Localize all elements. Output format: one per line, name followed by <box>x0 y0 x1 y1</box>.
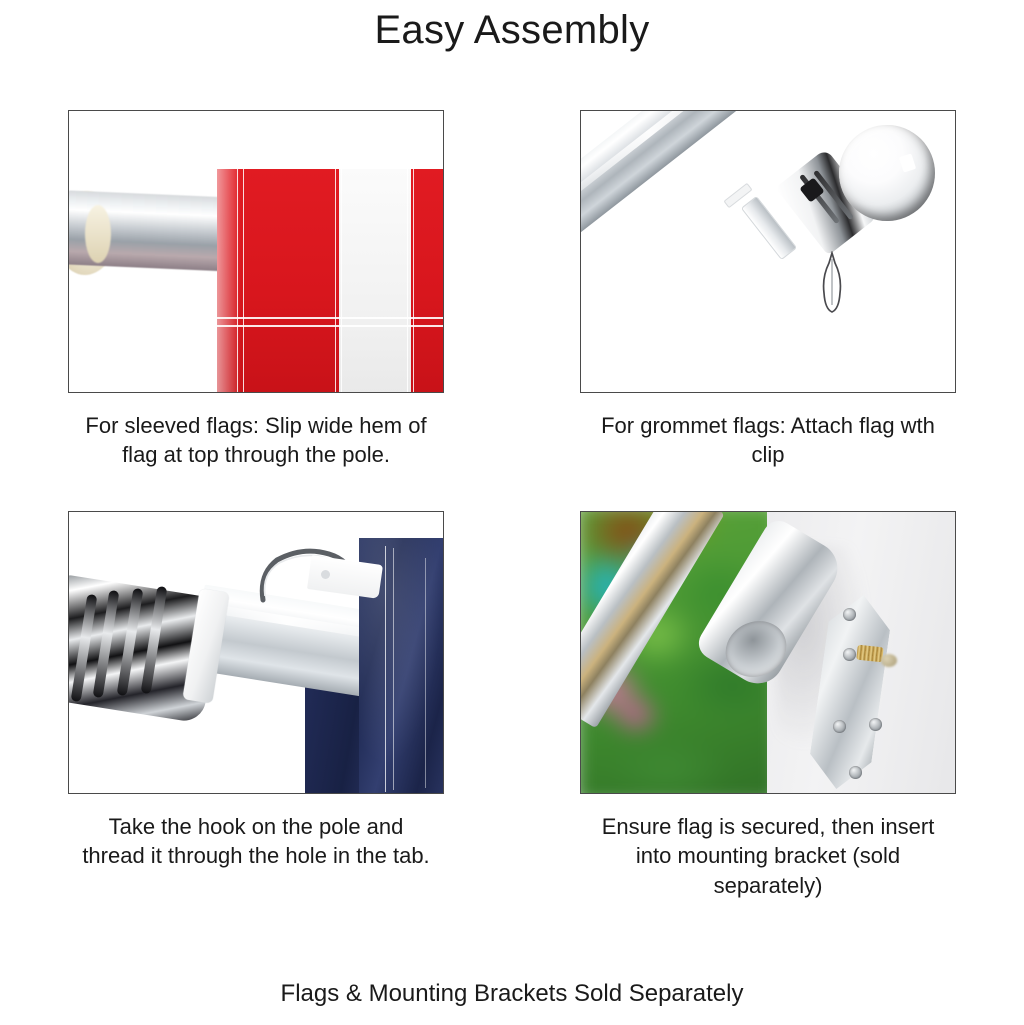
flag-hem-stitch-line <box>217 317 444 319</box>
flag-hem-stitch-line <box>217 325 444 327</box>
steps-row-bottom: Take the hook on the pole and thread it … <box>0 511 1024 900</box>
flag-stitch-line <box>385 546 386 792</box>
step-hook-thread-caption: Take the hook on the pole and thread it … <box>76 812 436 871</box>
hook-thread-scene <box>69 512 443 793</box>
step-grommet-flag: For grommet flags: Attach flag wth clip <box>512 110 1024 470</box>
flag-fold-shadow <box>217 169 251 393</box>
bracket-thumbscrew-tip <box>881 654 897 667</box>
flag-seam-stitch <box>407 169 408 393</box>
flag-clip-icon <box>819 251 845 315</box>
flag-stitch-line <box>425 558 426 788</box>
flag-stripe-red <box>411 169 444 393</box>
flag-seam-stitch <box>341 169 342 393</box>
pole-end-cap-highlight <box>85 205 111 263</box>
step-sleeved-flag-caption: For sleeved flags: Slip wide hem of flag… <box>76 411 436 470</box>
footer-disclaimer: Flags & Mounting Brackets Sold Separatel… <box>0 980 1024 1008</box>
flag-stitch-line <box>393 548 394 790</box>
flag-seam-stitch <box>413 169 414 393</box>
step-hook-thread: Take the hook on the pole and thread it … <box>0 511 512 900</box>
step-mounting-bracket-caption: Ensure flag is secured, then insert into… <box>588 812 948 900</box>
step-hook-thread-photo <box>68 511 444 794</box>
mounting-bracket-scene <box>581 512 955 793</box>
bracket-screw-icon <box>833 720 846 733</box>
page-title: Easy Assembly <box>0 8 1024 53</box>
grommet-pole-scene <box>581 111 955 392</box>
bracket-screw-icon <box>849 766 862 779</box>
step-sleeved-flag: For sleeved flags: Slip wide hem of flag… <box>0 110 512 470</box>
assembly-steps-grid: For sleeved flags: Slip wide hem of flag… <box>0 110 1024 900</box>
sleeved-flag-fabric <box>217 169 444 393</box>
flag-seam-stitch <box>335 169 336 393</box>
bracket-screw-icon <box>869 718 882 731</box>
step-sleeved-flag-photo <box>68 110 444 393</box>
bracket-thumbscrew-head <box>843 648 856 661</box>
flag-tab-hole <box>321 570 330 579</box>
steps-row-top: For sleeved flags: Slip wide hem of flag… <box>0 110 1024 470</box>
bracket-screw-icon <box>843 608 856 621</box>
step-mounting-bracket: Ensure flag is secured, then insert into… <box>512 511 1024 900</box>
bracket-thumbscrew-knurl <box>856 645 883 663</box>
flag-stripe-white <box>339 169 411 393</box>
flag-pole-shaft <box>580 110 783 259</box>
ball-finial-icon <box>839 125 935 221</box>
flag-stripe-red <box>245 169 339 393</box>
step-grommet-flag-caption: For grommet flags: Attach flag wth clip <box>588 411 948 470</box>
step-grommet-flag-photo <box>580 110 956 393</box>
step-mounting-bracket-photo <box>580 511 956 794</box>
easy-assembly-infographic: Easy Assembly <box>0 0 1024 1025</box>
